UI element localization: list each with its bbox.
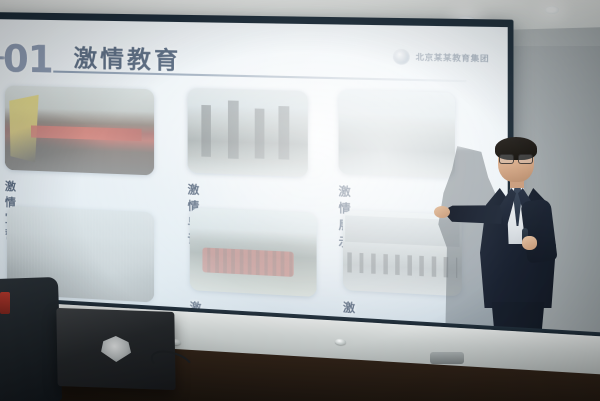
brand-name: 北京某某教育集团 bbox=[416, 51, 490, 64]
chair-accent bbox=[0, 292, 10, 314]
presenter-right-hand bbox=[522, 236, 537, 250]
desk-screw bbox=[335, 338, 346, 345]
screenshot-root: 01 激情教育 北京某某教育集团 激情宣誓 bbox=[0, 0, 600, 401]
photo-glare-wash bbox=[339, 90, 455, 179]
photo-glare-wash bbox=[188, 88, 308, 177]
slide-section-number: 01 bbox=[3, 37, 53, 81]
thumbnail-presentation bbox=[339, 90, 455, 179]
ceiling-light-secondary-icon bbox=[545, 6, 559, 14]
presenter bbox=[466, 140, 558, 340]
slide-title: 激情教育 bbox=[74, 39, 182, 76]
laptop bbox=[56, 308, 175, 390]
title-underline bbox=[53, 71, 466, 83]
photo-glare-wash bbox=[5, 85, 154, 175]
brand-mark-icon bbox=[393, 49, 410, 65]
desk-object bbox=[430, 352, 464, 364]
brand-logo: 北京某某教育集团 bbox=[393, 49, 489, 67]
presenter-pointing-hand bbox=[434, 206, 450, 218]
photo-glare-wash bbox=[190, 208, 317, 297]
laptop-emblem-icon bbox=[101, 335, 131, 362]
glasses-icon bbox=[499, 154, 533, 162]
thumbnail-morning-reading bbox=[188, 88, 308, 177]
thumbnail-oath bbox=[5, 85, 154, 175]
thumbnail-running bbox=[190, 208, 317, 297]
